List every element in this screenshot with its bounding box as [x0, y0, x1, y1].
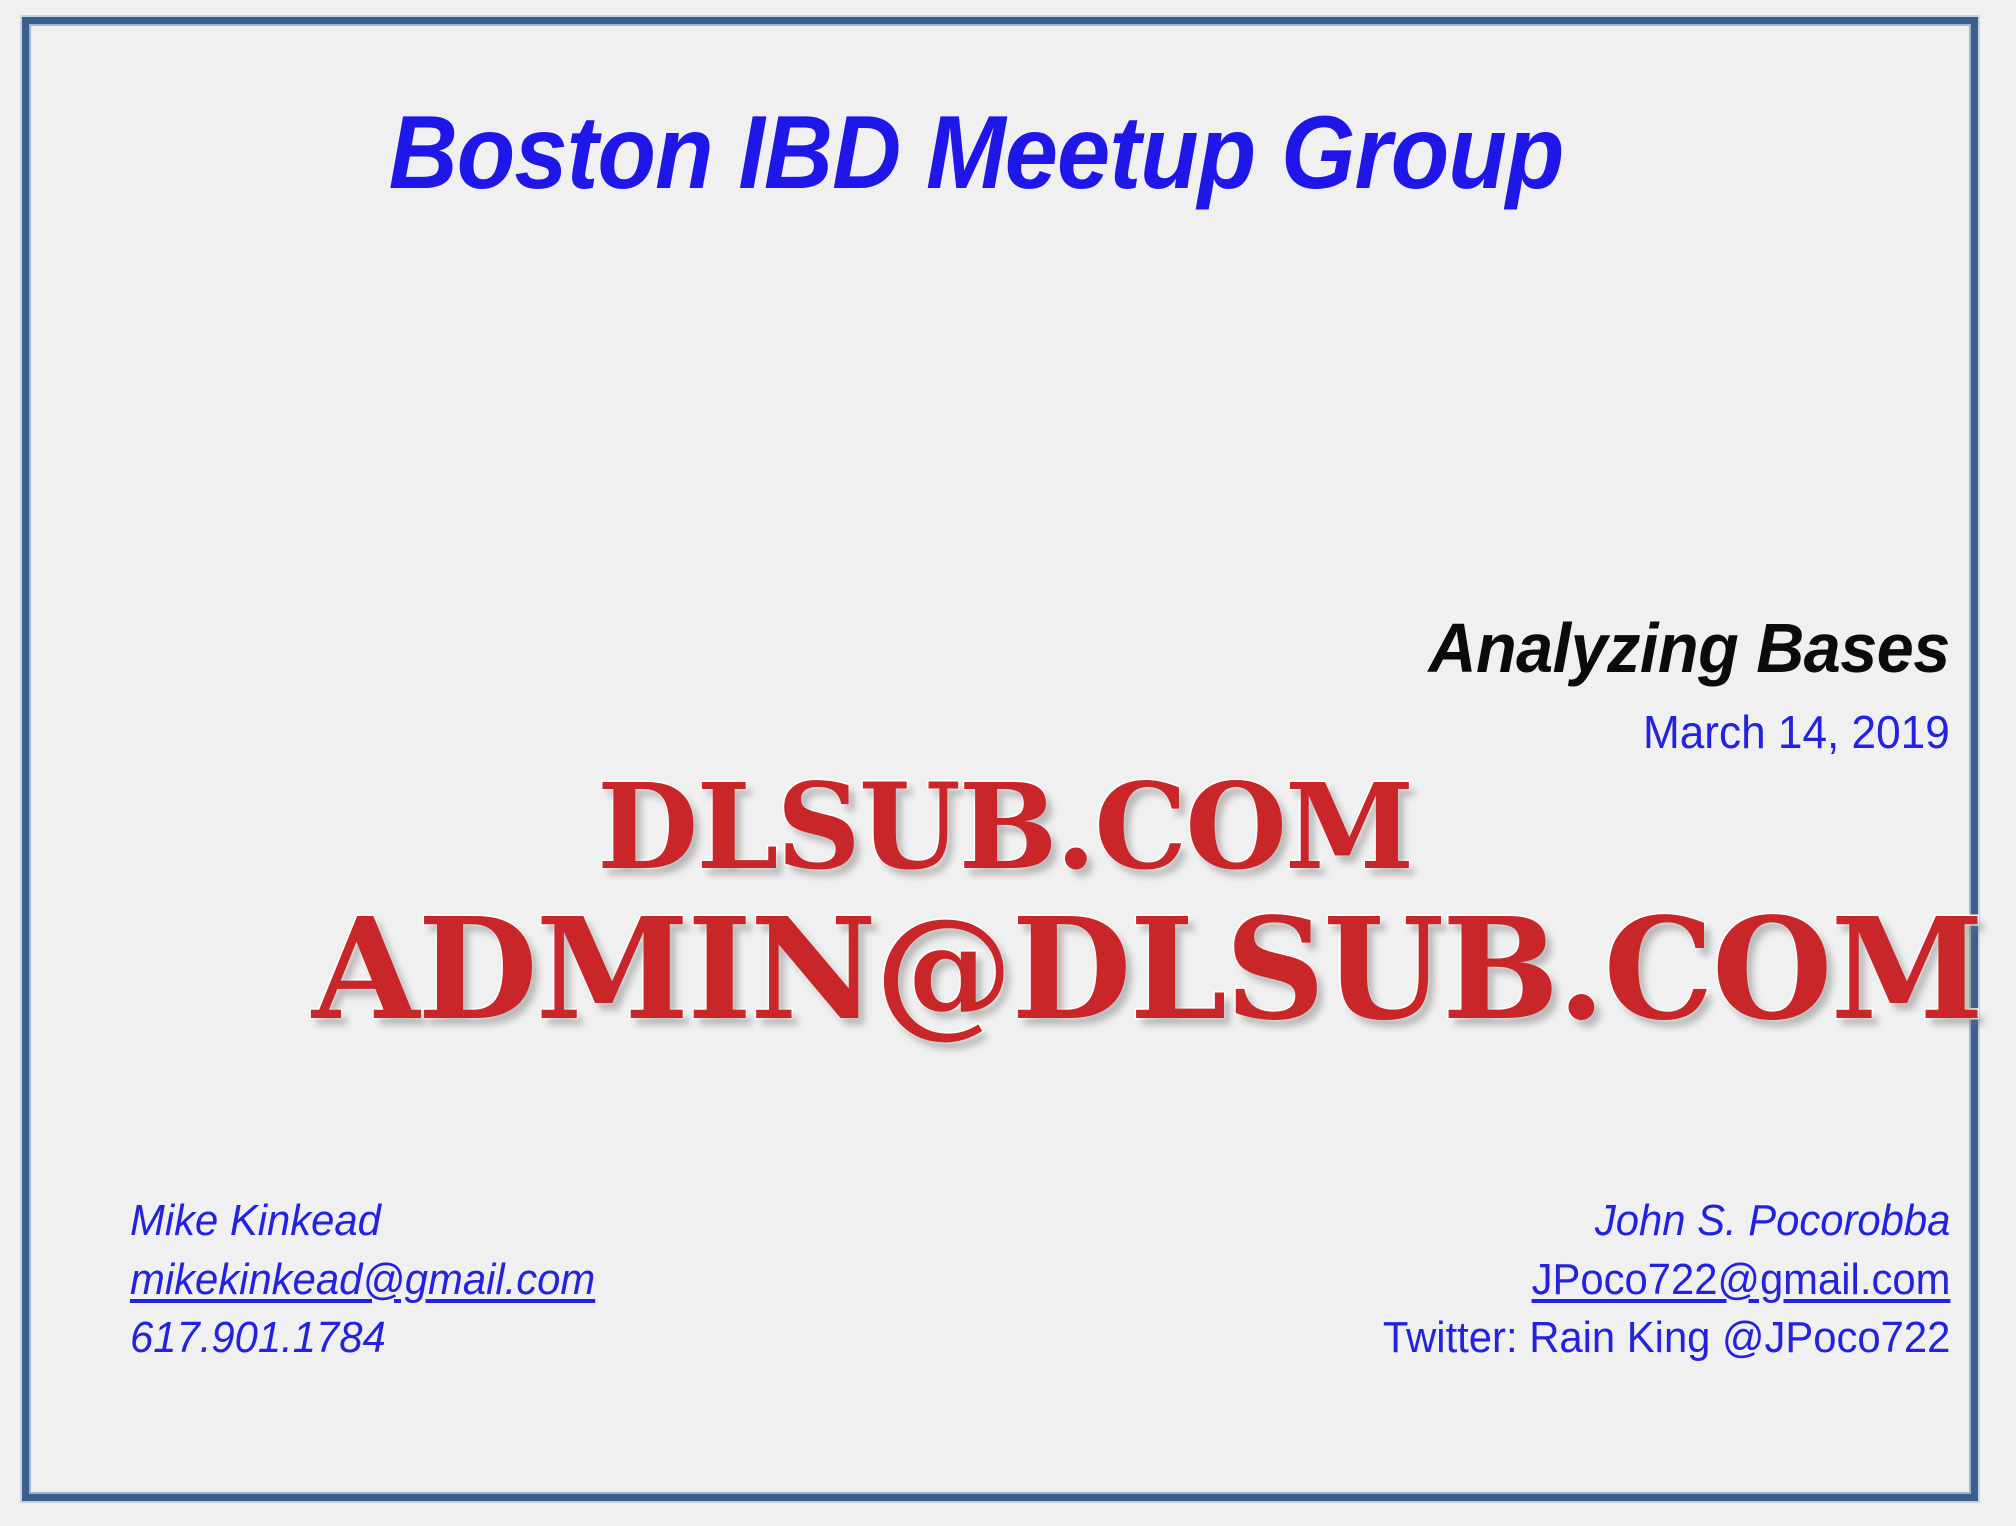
contact-left-phone: 617.901.1784: [130, 1309, 595, 1368]
contact-left-name: Mike Kinkead: [130, 1192, 595, 1251]
contact-block-right: John S. Pocorobba JPoco722@gmail.com Twi…: [1353, 1192, 1950, 1368]
watermark-email: ADMIN@DLSUB.COM: [312, 888, 1982, 1052]
subtitle-block: Analyzing Bases March 14, 2019: [1401, 608, 1950, 759]
contact-right-name: John S. Pocorobba: [1382, 1192, 1950, 1251]
presentation-date: March 14, 2019: [1423, 705, 1950, 759]
contact-right-twitter: Twitter: Rain King @JPoco722: [1382, 1309, 1950, 1368]
contact-block-left: Mike Kinkead mikekinkead@gmail.com 617.9…: [130, 1192, 620, 1368]
contact-right-email-link[interactable]: JPoco722@gmail.com: [1382, 1251, 1950, 1310]
presentation-subtitle: Analyzing Bases: [1429, 608, 1950, 689]
presentation-slide: Boston IBD Meetup Group Analyzing Bases …: [0, 0, 2016, 1526]
watermark-domain: DLSUB.COM: [597, 757, 1412, 896]
page-title: Boston IBD Meetup Group: [78, 96, 1874, 210]
contact-left-email-link[interactable]: mikekinkead@gmail.com: [130, 1251, 595, 1310]
